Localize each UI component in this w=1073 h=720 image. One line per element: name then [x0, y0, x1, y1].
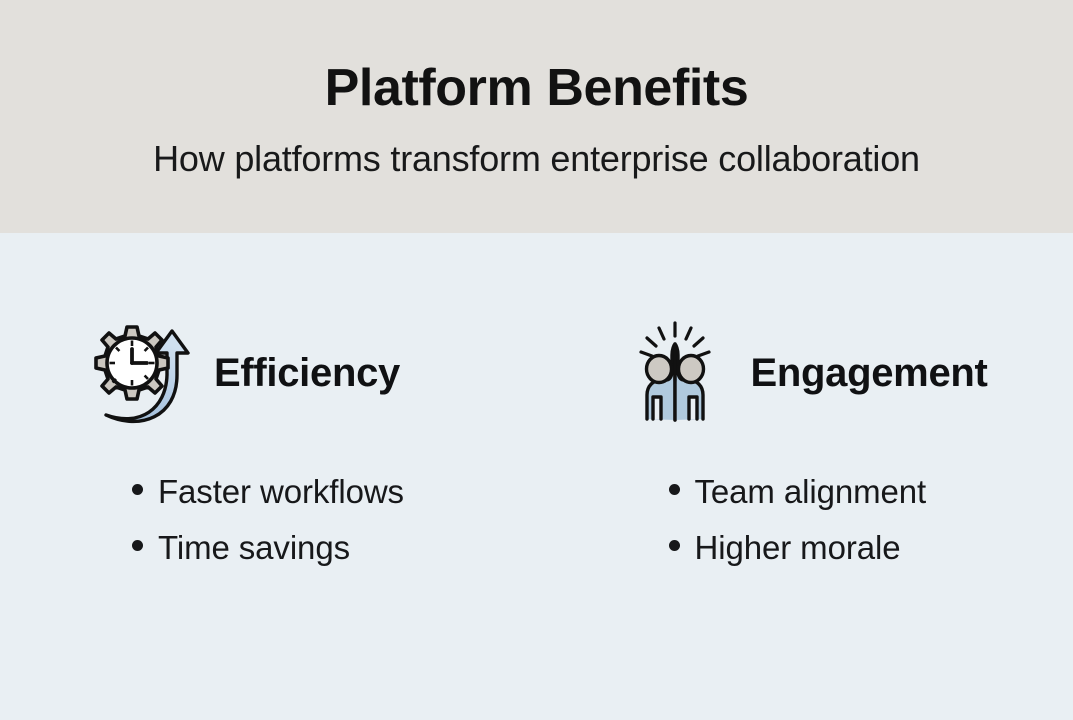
slide-header: Platform Benefits How platforms transfor… [0, 0, 1073, 233]
slide-root: Platform Benefits How platforms transfor… [0, 0, 1073, 720]
bullet-dot-icon [669, 540, 680, 551]
list-item: Time savings [132, 531, 520, 564]
page-title: Platform Benefits [325, 62, 749, 114]
benefit-column-efficiency: Efficiency Faster workflows Time savings [0, 233, 537, 720]
card-header-engagement: Engagement [617, 319, 1057, 427]
list-item-label: Time savings [158, 531, 350, 564]
bullet-dot-icon [669, 484, 680, 495]
benefit-columns: Efficiency Faster workflows Time savings [0, 233, 1073, 720]
benefit-column-engagement: Engagement Team alignment Higher morale [537, 233, 1073, 720]
card-title-efficiency: Efficiency [214, 353, 400, 393]
slide-body: Efficiency Faster workflows Time savings [0, 233, 1073, 720]
list-item: Higher morale [669, 531, 1057, 564]
bullet-dot-icon [132, 540, 143, 551]
card-header-efficiency: Efficiency [80, 319, 520, 427]
gear-clock-arrow-icon [80, 319, 196, 427]
list-item-label: Team alignment [695, 475, 927, 508]
bullet-list-efficiency: Faster workflows Time savings [132, 475, 520, 564]
card-title-engagement: Engagement [751, 353, 988, 393]
high-five-people-icon [617, 319, 733, 427]
list-item: Faster workflows [132, 475, 520, 508]
list-item-label: Higher morale [695, 531, 901, 564]
page-subtitle: How platforms transform enterprise colla… [153, 141, 920, 177]
list-item: Team alignment [669, 475, 1057, 508]
list-item-label: Faster workflows [158, 475, 404, 508]
bullet-list-engagement: Team alignment Higher morale [669, 475, 1057, 564]
bullet-dot-icon [132, 484, 143, 495]
